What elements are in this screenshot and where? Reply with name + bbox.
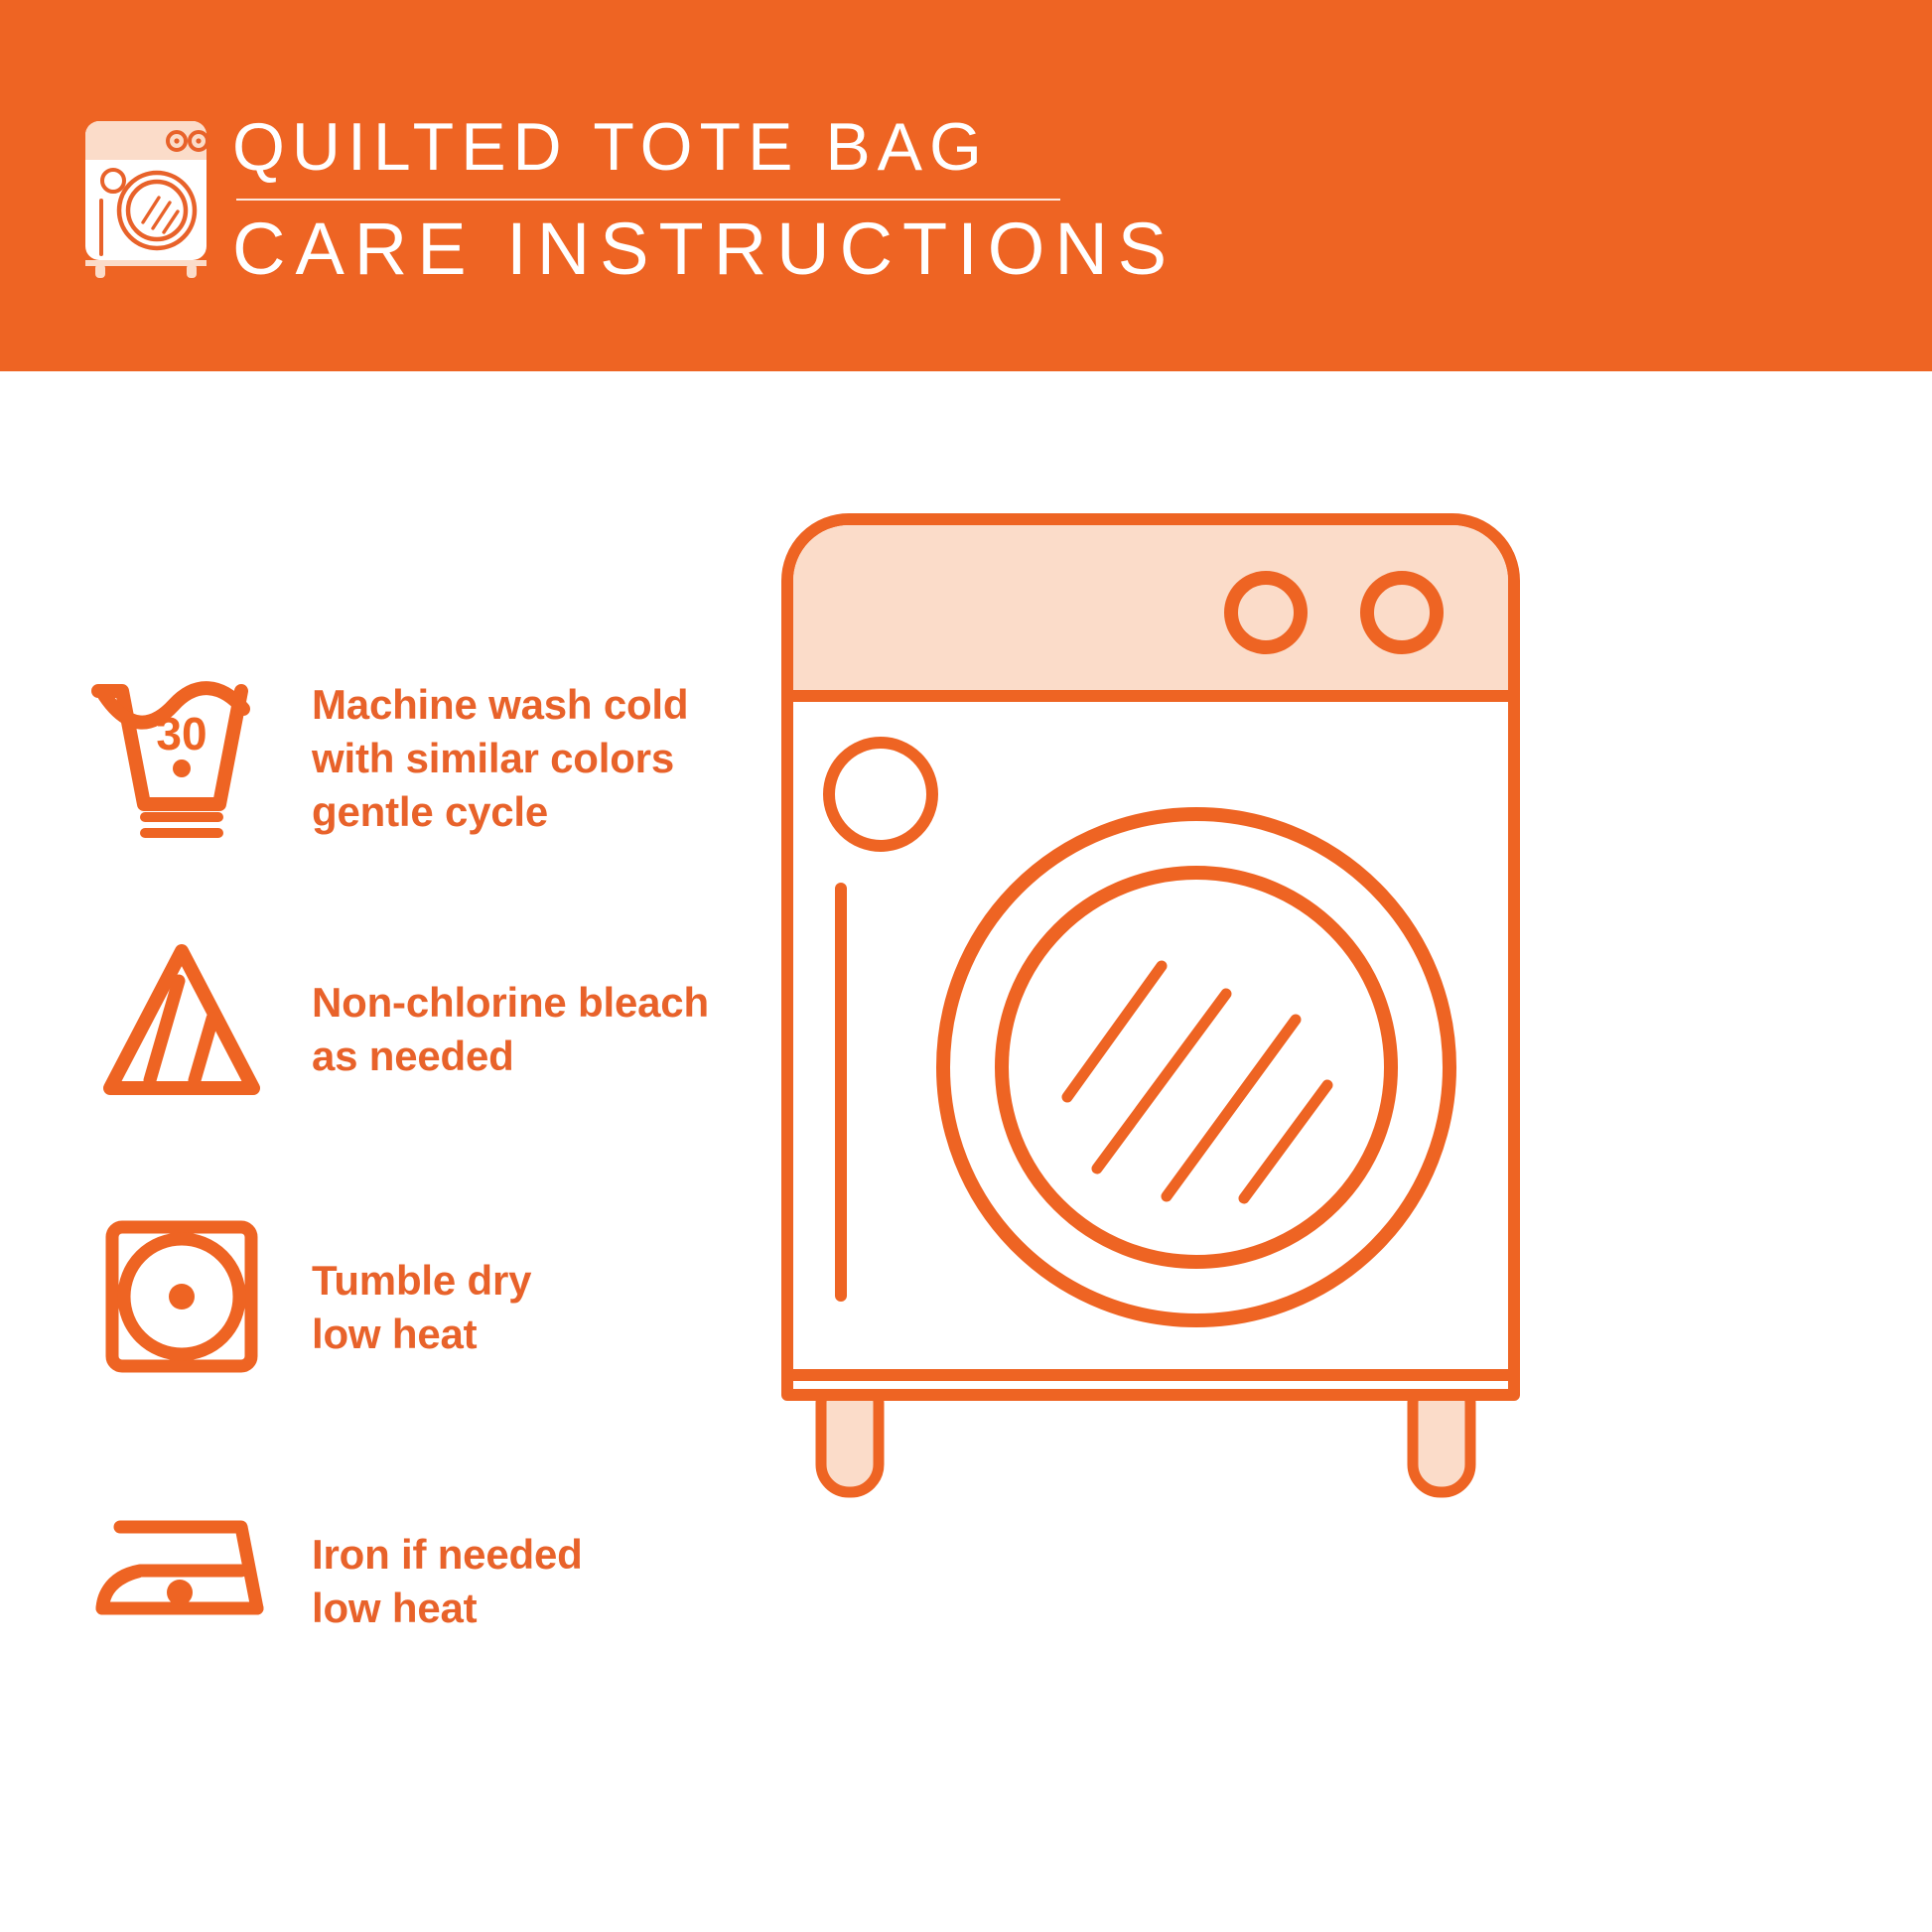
page-title: QUILTED TOTE BAG: [232, 107, 1225, 187]
care-line: as needed: [312, 1030, 772, 1083]
header-divider: [236, 199, 1060, 201]
wash-temperature-label: 30: [156, 708, 207, 759]
care-line: Non-chlorine bleach: [312, 976, 772, 1030]
care-row-label: Iron if needed low heat: [286, 1470, 772, 1635]
washing-machine-icon: [71, 115, 220, 279]
iron-low-heat-icon: [77, 1470, 286, 1679]
care-row: Non-chlorine bleach as needed: [77, 918, 772, 1147]
wash-tub-30-gentle-icon: 30: [77, 650, 286, 859]
care-row-label: Non-chlorine bleach as needed: [286, 918, 772, 1083]
care-row-label: Tumble dry low heat: [286, 1194, 772, 1361]
care-line: Machine wash cold: [312, 678, 772, 732]
care-row: Iron if needed low heat: [77, 1470, 772, 1699]
care-line: low heat: [312, 1308, 772, 1361]
care-line: gentle cycle: [312, 785, 772, 839]
washing-machine-illustration: [769, 501, 1534, 1504]
non-chlorine-bleach-triangle-icon: [77, 918, 286, 1127]
care-line: Tumble dry: [312, 1254, 772, 1308]
page-subtitle: CARE INSTRUCTIONS: [232, 207, 1225, 292]
care-row-label: Machine wash cold with similar colors ge…: [286, 650, 772, 839]
knob-right: [1367, 578, 1437, 647]
care-line: with similar colors: [312, 732, 772, 785]
knob-left: [1231, 578, 1301, 647]
care-line: low heat: [312, 1582, 772, 1635]
care-row: 30 Machine wash cold with similar colors…: [77, 650, 772, 879]
care-line: Iron if needed: [312, 1528, 772, 1582]
header-content: QUILTED TOTE BAG CARE INSTRUCTIONS: [71, 107, 1362, 306]
tumble-dry-low-heat-icon: [77, 1194, 286, 1403]
care-instructions-list: 30 Machine wash cold with similar colors…: [77, 650, 772, 1699]
header-text-block: QUILTED TOTE BAG CARE INSTRUCTIONS: [232, 107, 1225, 292]
care-row: Tumble dry low heat: [77, 1194, 772, 1423]
header-band: QUILTED TOTE BAG CARE INSTRUCTIONS: [0, 0, 1932, 371]
